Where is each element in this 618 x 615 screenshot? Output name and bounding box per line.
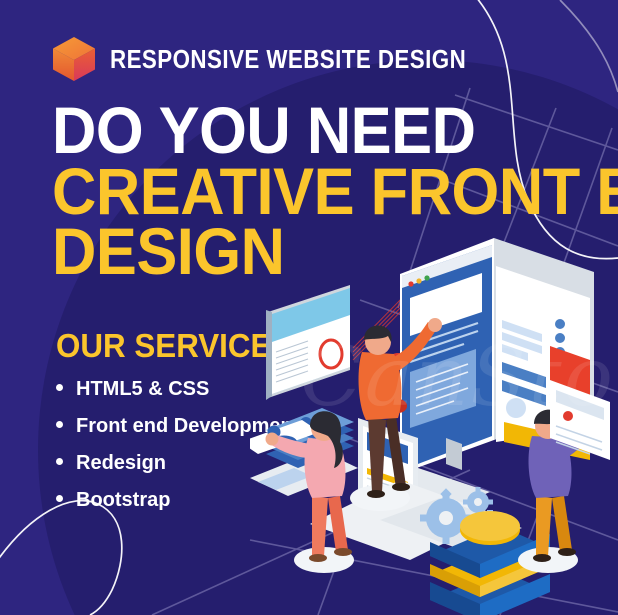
isometric-cube-icon [52, 36, 96, 82]
bullet-icon [56, 421, 63, 428]
floating-screen-left [266, 285, 350, 400]
service-label: HTML5 & CSS [76, 379, 209, 399]
bullet-icon [56, 495, 63, 502]
service-label: Bootstrap [76, 490, 170, 510]
headline-line-2: CREATIVE FRONT END [52, 161, 545, 222]
service-label: Redesign [76, 453, 166, 473]
brand-name: RESPONSIVE WEBSITE DESIGN [110, 44, 466, 75]
bullet-icon [56, 458, 63, 465]
headline-line-1: DO YOU NEED [52, 100, 545, 161]
poster-canvas: RESPONSIVE WEBSITE DESIGN DO YOU NEED CR… [0, 0, 618, 615]
bullet-icon [56, 384, 63, 391]
isometric-web-design-team-illustration [250, 230, 618, 615]
brand-header: RESPONSIVE WEBSITE DESIGN [52, 36, 524, 82]
